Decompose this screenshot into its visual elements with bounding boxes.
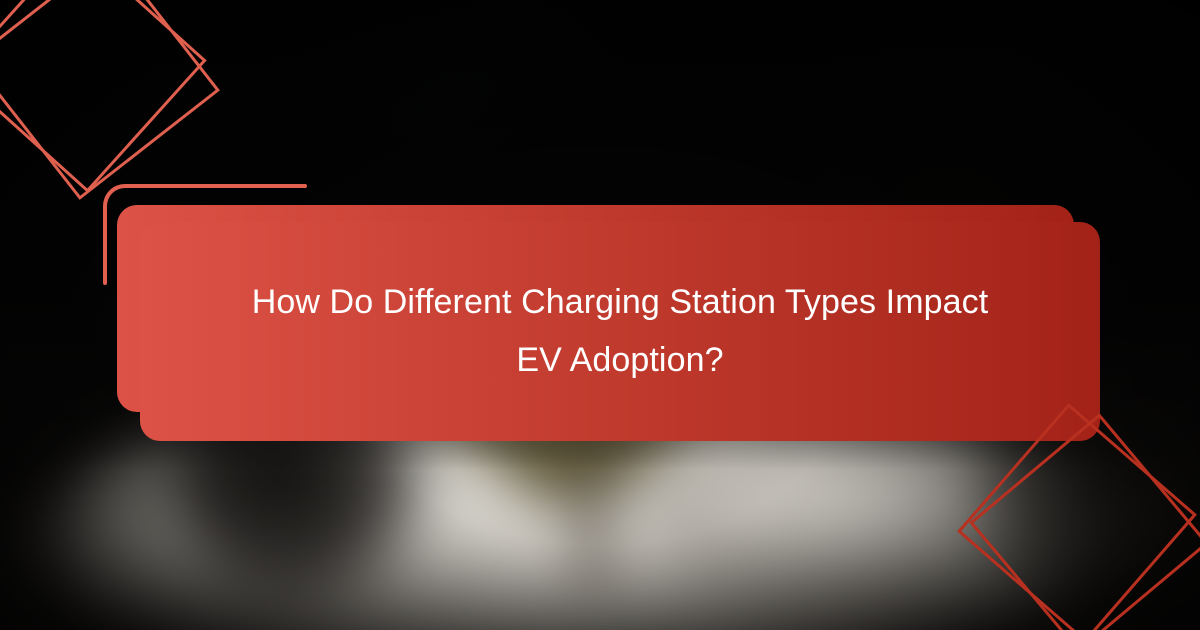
social-share-banner: How Do Different Charging Station Types … [0,0,1200,630]
decoration-top-left-squares [0,0,222,208]
rotated-square-icon [0,0,220,200]
decoration-bottom-right-squares [992,438,1200,630]
page-title-line-1: How Do Different Charging Station Types [252,283,876,321]
bracket-cap-horizontal [301,184,307,188]
bracket-cap-vertical [103,279,107,285]
title-card: How Do Different Charging Station Types … [140,222,1100,441]
rotated-square-icon [969,413,1200,630]
page-title: How Do Different Charging Station Types … [250,273,990,391]
